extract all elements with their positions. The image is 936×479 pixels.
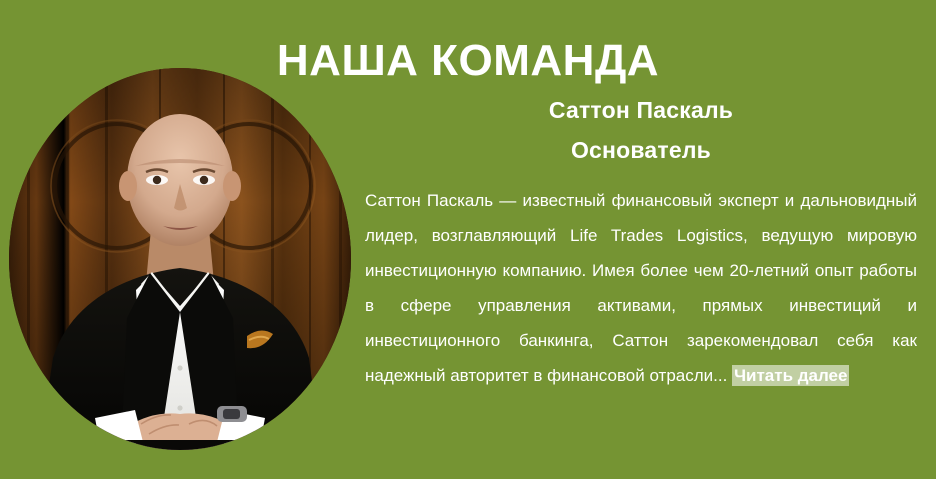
member-bio: Саттон Паскаль — известный финансовый эк… xyxy=(365,183,917,393)
member-photo-image xyxy=(9,68,351,450)
member-bio-text: Саттон Паскаль — известный финансовый эк… xyxy=(365,191,917,385)
member-info: Саттон Паскаль Основатель Саттон Паскаль… xyxy=(365,90,917,410)
member-photo xyxy=(9,68,351,450)
team-section: НАША КОМАНДА xyxy=(0,0,936,479)
read-more-link[interactable]: Читать далее xyxy=(732,365,849,386)
member-name: Саттон Паскаль xyxy=(365,90,917,130)
member-role: Основатель xyxy=(365,130,917,170)
